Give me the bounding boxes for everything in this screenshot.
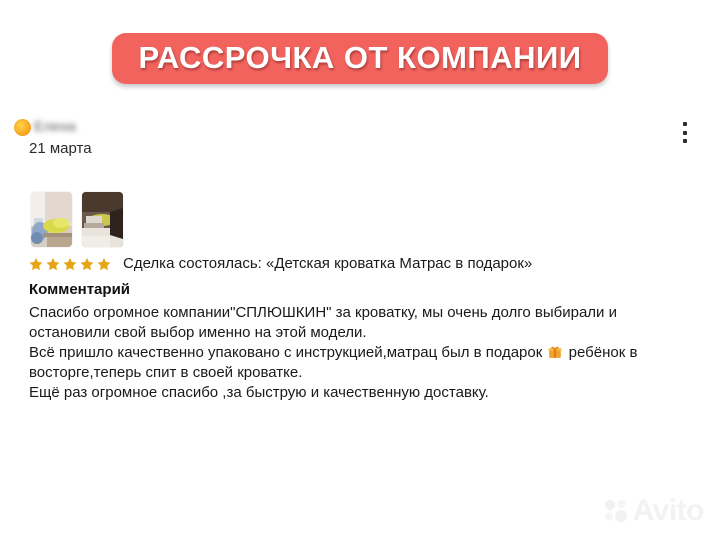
photo-1-image — [31, 192, 72, 247]
deal-status-text: Сделка состоялась: «Детская кроватка Мат… — [123, 255, 532, 272]
avito-logo-icon — [603, 498, 629, 524]
review-date: 21 марта — [29, 140, 92, 157]
comment-body: Спасибо огромное компании"СПЛЮШКИН" за к… — [29, 303, 693, 403]
promo-banner-text: РАССРОЧКА ОТ КОМПАНИИ — [138, 42, 581, 73]
star-icon — [97, 257, 111, 271]
star-icon — [80, 257, 94, 271]
avito-watermark-text: Avito — [633, 496, 704, 526]
kebab-dot — [683, 122, 687, 126]
promo-banner-wrapper: РАССРОЧКА ОТ КОМПАНИИ — [0, 33, 720, 84]
review-rating-line: Сделка состоялась: «Детская кроватка Мат… — [29, 255, 532, 272]
avito-watermark: Avito — [603, 496, 704, 526]
comment-heading: Комментарий — [29, 281, 130, 298]
photo-2-image — [82, 192, 123, 247]
star-icon — [46, 257, 60, 271]
kebab-dot — [683, 131, 687, 135]
promo-banner: РАССРОЧКА ОТ КОМПАНИИ — [112, 33, 607, 84]
avatar — [14, 119, 31, 136]
gift-emoji-icon — [548, 345, 562, 359]
star-icon — [29, 257, 43, 271]
review-card: Елена 21 марта — [0, 118, 720, 152]
review-photo-thumbnail[interactable] — [31, 192, 72, 247]
review-photo-thumbnail[interactable] — [82, 192, 123, 247]
star-icon — [63, 257, 77, 271]
review-photos — [31, 192, 123, 247]
review-header: Елена 21 марта — [0, 118, 720, 152]
review-author-name[interactable]: Елена — [34, 118, 76, 134]
comment-paragraph: Ещё раз огромное спасибо ,за быструю и к… — [29, 383, 693, 403]
kebab-menu-icon[interactable] — [682, 122, 687, 143]
comment-paragraph: Всё пришло качественно упаковано с инстр… — [29, 343, 693, 383]
comment-paragraph: Спасибо огромное компании"СПЛЮШКИН" за к… — [29, 303, 693, 343]
star-rating — [29, 257, 111, 271]
kebab-dot — [683, 139, 687, 143]
